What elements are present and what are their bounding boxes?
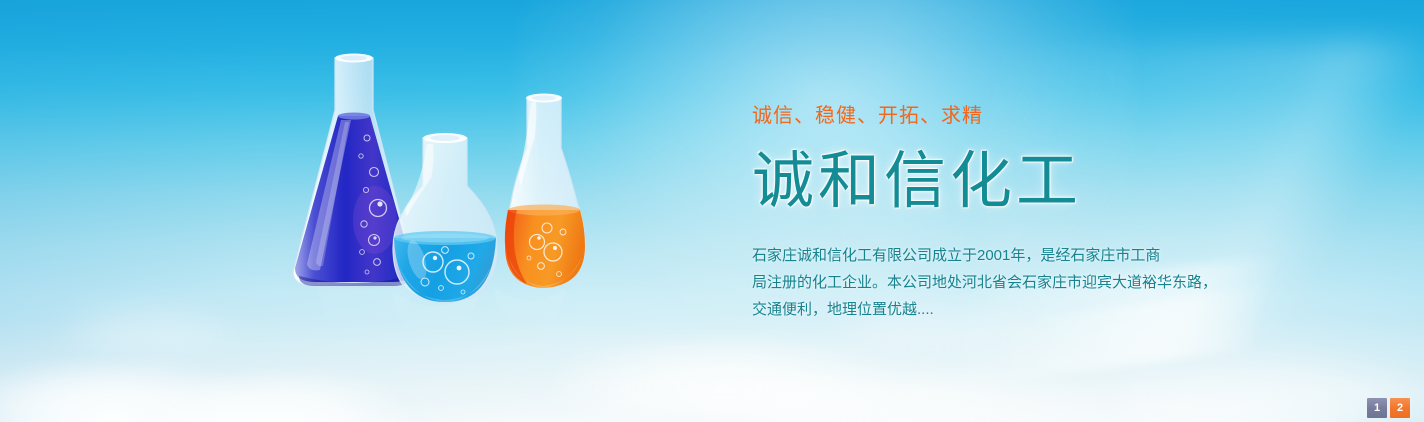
company-intro-line: 交通便利，地理位置优越.... <box>752 296 1202 323</box>
pagination-button-2[interactable]: 2 <box>1390 398 1410 418</box>
chemistry-flasks-illustration <box>275 52 635 352</box>
company-intro-line: 石家庄诚和信化工有限公司成立于2001年，是经石家庄市工商 <box>752 242 1202 269</box>
round-bottom-flask-cyan <box>393 133 497 302</box>
banner-copy: 诚信、稳健、开拓、求精 诚和信化工 石家庄诚和信化工有限公司成立于2001年，是… <box>752 104 1272 323</box>
pagination-button-1[interactable]: 1 <box>1367 398 1387 418</box>
company-name-headline: 诚和信化工 <box>752 148 1272 216</box>
banner-slogan: 诚信、稳健、开拓、求精 <box>752 104 1272 128</box>
florence-flask-orange <box>505 94 585 289</box>
banner-pagination: 1 2 <box>1367 398 1410 418</box>
company-intro-paragraph: 石家庄诚和信化工有限公司成立于2001年，是经石家庄市工商 局注册的化工企业。本… <box>752 242 1202 323</box>
hero-banner: 诚信、稳健、开拓、求精 诚和信化工 石家庄诚和信化工有限公司成立于2001年，是… <box>0 0 1424 422</box>
company-intro-line: 局注册的化工企业。本公司地处河北省会石家庄市迎宾大道裕华东路， <box>752 269 1202 296</box>
